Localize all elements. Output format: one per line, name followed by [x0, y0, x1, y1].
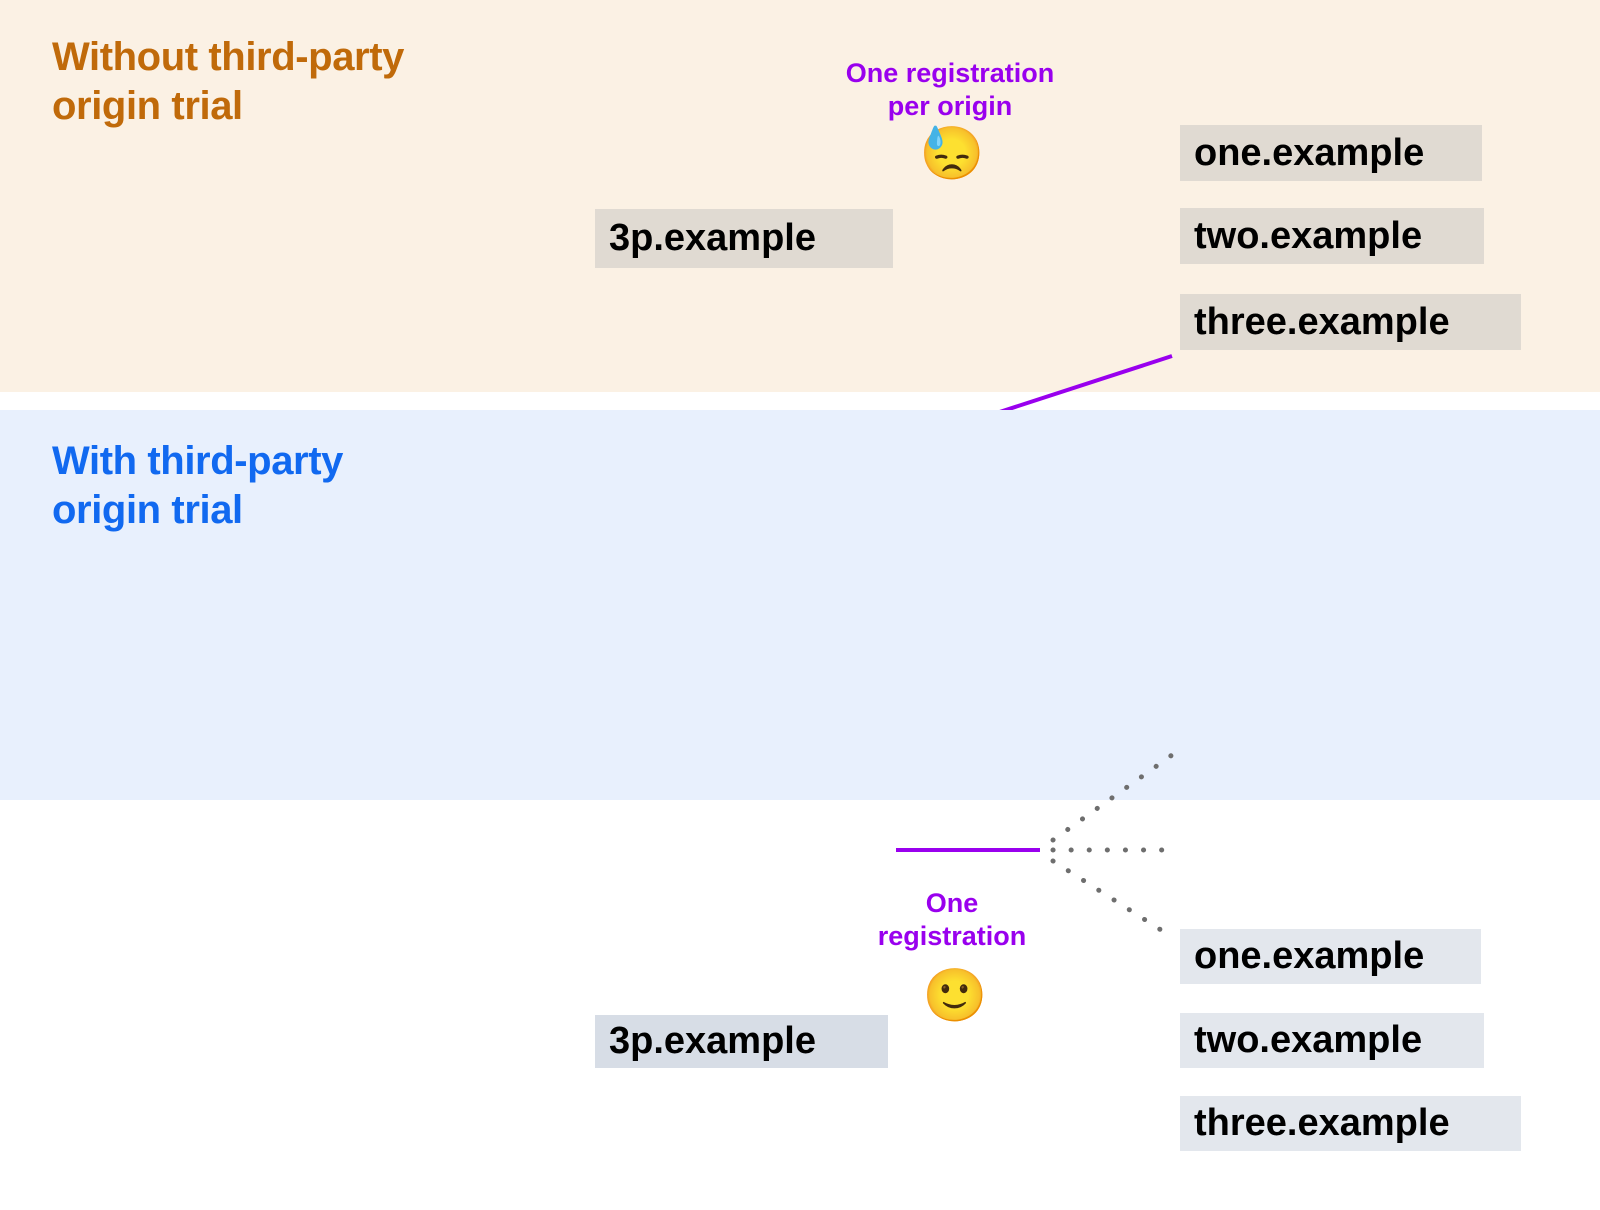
node-label: 3p.example [609, 1020, 816, 1063]
node-label: two.example [1194, 1019, 1422, 1062]
node-target-two-example-bottom: two.example [1180, 1013, 1484, 1068]
node-label: three.example [1194, 301, 1450, 344]
node-target-one-example-top: one.example [1180, 125, 1482, 181]
node-label: 3p.example [609, 217, 816, 260]
node-label: two.example [1194, 215, 1422, 258]
panel-with-origin-trial: With third-party origin trial One regist… [0, 410, 1600, 800]
downcast-face-with-sweat-icon: 😓 [917, 128, 987, 180]
annotation-one-registration-per-origin: One registration per origin [790, 57, 1110, 123]
node-source-3p-example-top: 3p.example [595, 209, 893, 268]
slightly-smiling-face-icon: 🙂 [920, 970, 990, 1022]
diagram-canvas: Without third-party origin trial One reg… [0, 0, 1600, 800]
node-target-one-example-bottom: one.example [1180, 929, 1481, 984]
panel-without-origin-trial: Without third-party origin trial One reg… [0, 0, 1600, 392]
node-label: one.example [1194, 935, 1424, 978]
node-label: three.example [1194, 1102, 1450, 1145]
annotation-one-registration: One registration [832, 887, 1072, 953]
panel-title-with-origin-trial: With third-party origin trial [52, 437, 343, 535]
node-source-3p-example-bottom: 3p.example [595, 1015, 888, 1068]
node-target-three-example-top: three.example [1180, 294, 1521, 350]
edge-to-one-example-bottom [1053, 755, 1172, 840]
node-target-two-example-top: two.example [1180, 208, 1484, 264]
panel-title-without-origin-trial: Without third-party origin trial [52, 33, 404, 131]
node-label: one.example [1194, 132, 1424, 175]
node-target-three-example-bottom: three.example [1180, 1096, 1521, 1151]
